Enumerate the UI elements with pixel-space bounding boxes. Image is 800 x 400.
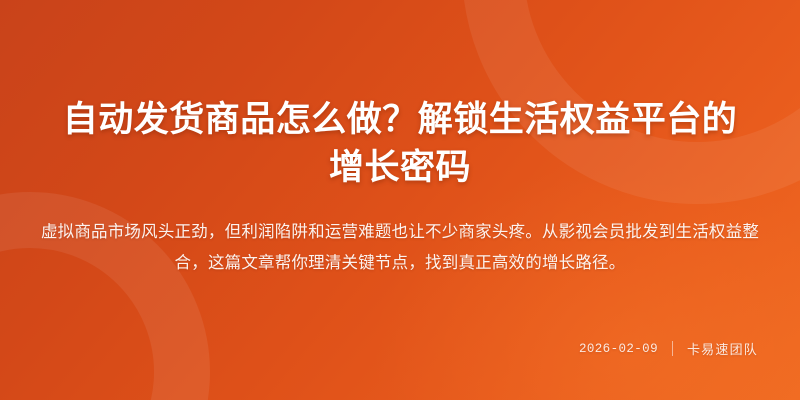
banner-footer: 2026-02-09 卡易速团队 (579, 339, 758, 358)
page-title: 自动发货商品怎么做？解锁生活权益平台的增长密码 (0, 0, 800, 191)
article-cover-banner: 自动发货商品怎么做？解锁生活权益平台的增长密码 虚拟商品市场风头正劲，但利润陷阱… (0, 0, 800, 400)
page-subtitle: 虚拟商品市场风头正劲，但利润陷阱和运营难题也让不少商家头疼。从影视会员批发到生活… (0, 191, 800, 278)
footer-divider (672, 341, 673, 356)
author-name: 卡易速团队 (687, 339, 758, 358)
banner-content: 自动发货商品怎么做？解锁生活权益平台的增长密码 虚拟商品市场风头正劲，但利润陷阱… (0, 0, 800, 400)
publish-date: 2026-02-09 (579, 342, 658, 356)
